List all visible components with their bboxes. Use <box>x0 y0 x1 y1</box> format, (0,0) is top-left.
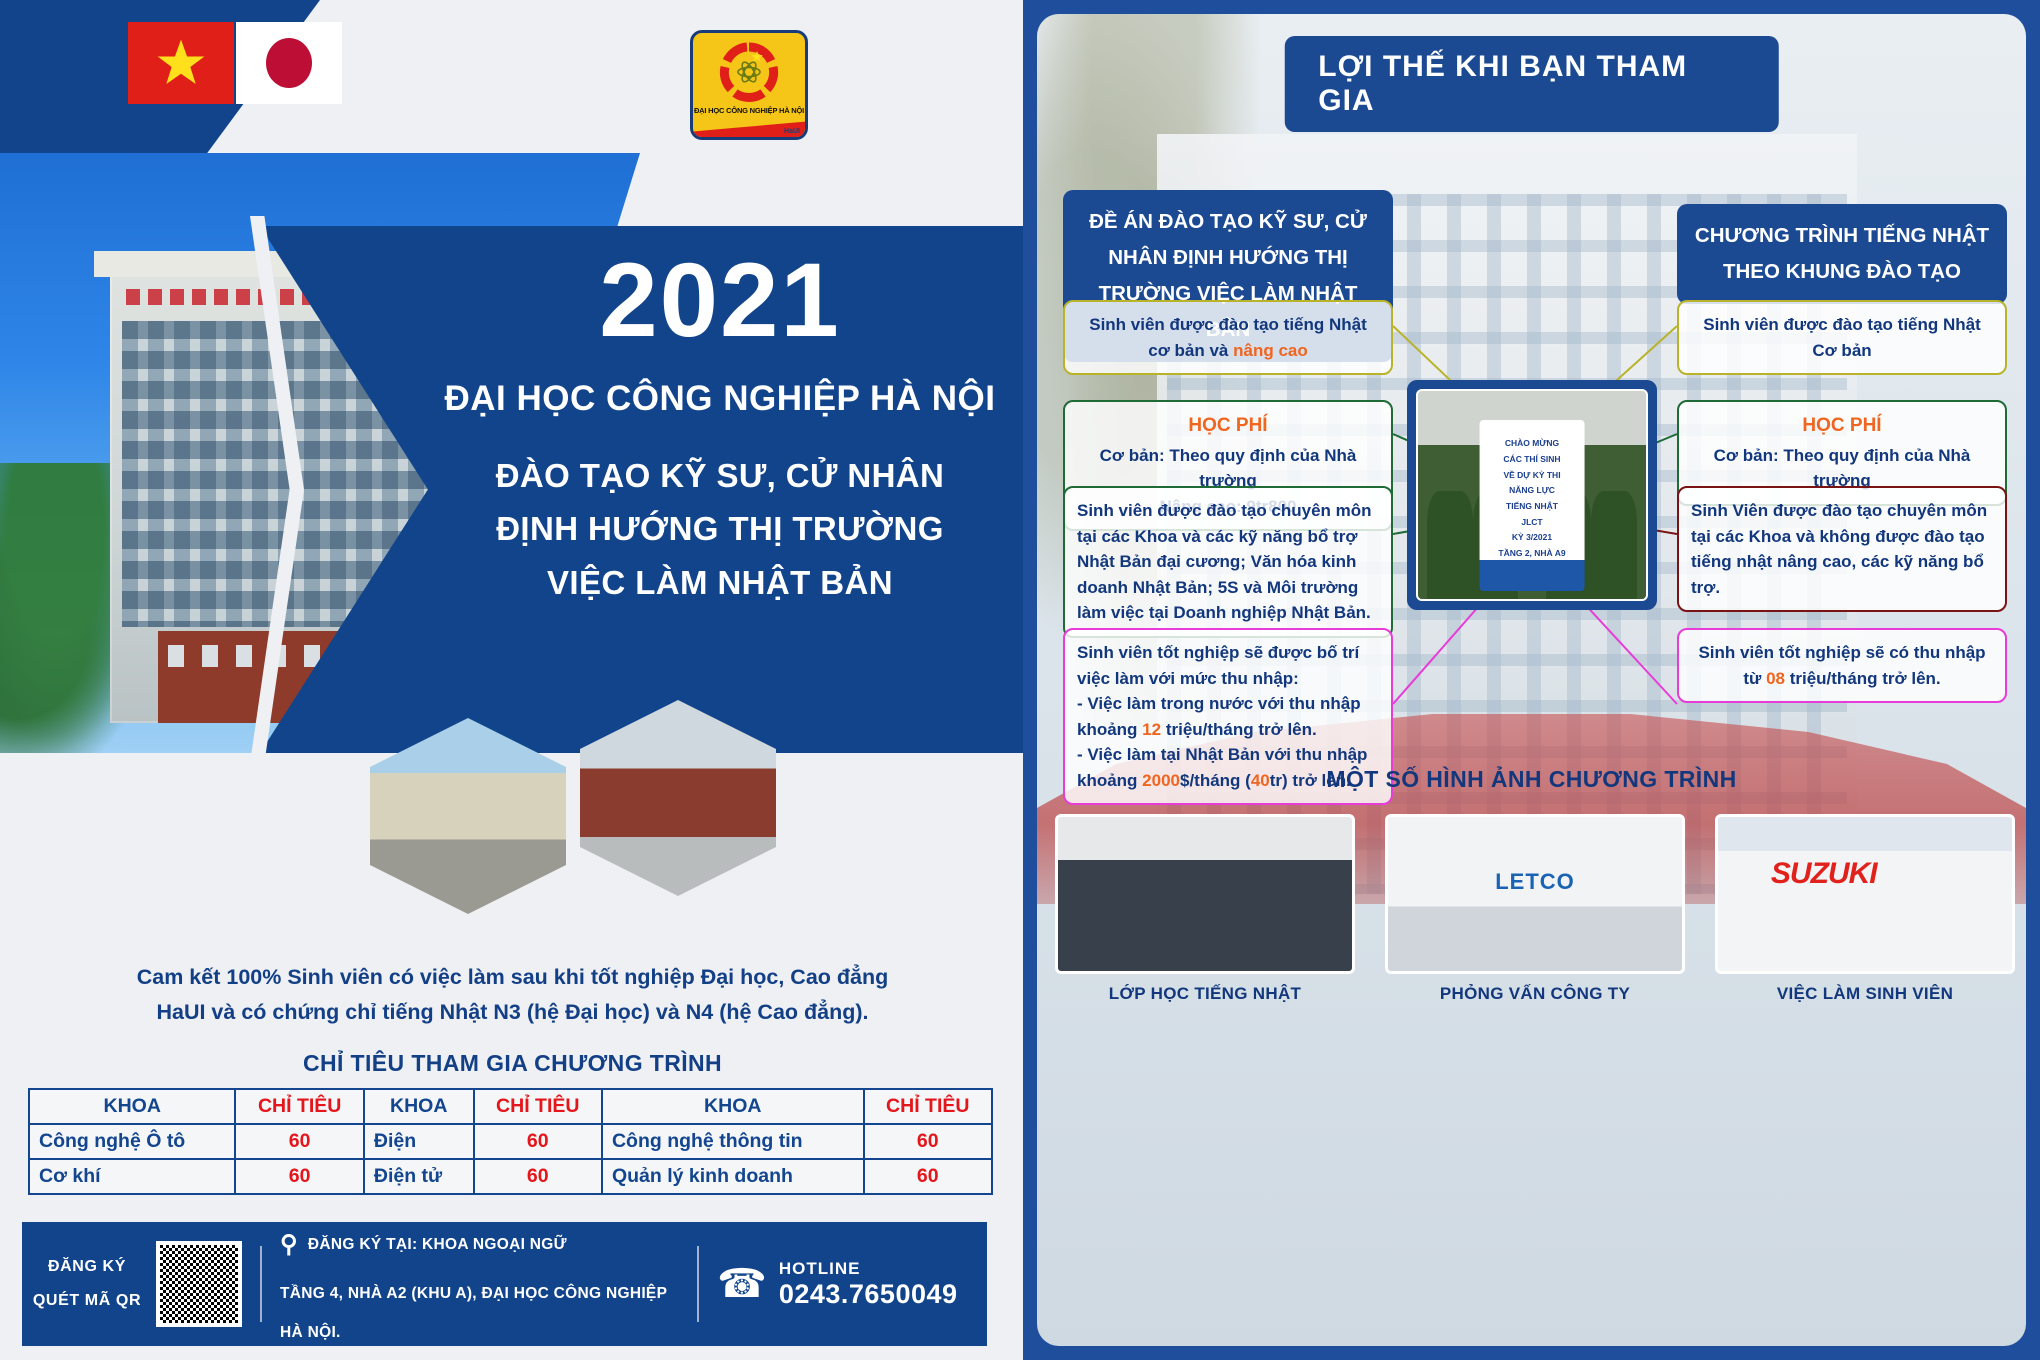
banner-line-7: KỲ 3/2021 <box>1480 530 1585 546</box>
vietnam-flag-icon <box>128 22 234 104</box>
accent-nang-cao: nâng cao <box>1233 341 1308 360</box>
japan-sun-disc <box>266 38 312 88</box>
cell-quota: 60 <box>474 1159 602 1194</box>
accent-12: 12 <box>1142 720 1161 739</box>
right-box-specialization: Sinh Viên được đào tạo chuyên môn tại cá… <box>1677 486 2007 612</box>
footer-address: ⚲ ĐĂNG KÝ TẠI: KHOA NGOẠI NGỮ TẦNG 4, NH… <box>280 1215 679 1353</box>
haui-logo-abbr: HaUI <box>784 128 800 135</box>
hero-section: 2021 ĐẠI HỌC CÔNG NGHIỆP HÀ NỘI ĐÀO TẠO … <box>0 153 1023 753</box>
footer-divider-1 <box>260 1246 262 1322</box>
page-title-year: 2021 <box>430 248 1010 353</box>
right-box-income: Sinh viên tốt nghiệp sẽ có thu nhập từ 0… <box>1677 628 2007 703</box>
register-line-1: ĐĂNG KÝ <box>22 1250 152 1284</box>
cell-quota: 60 <box>474 1124 602 1159</box>
col-chitieu-1: CHỈ TIÊU <box>235 1089 363 1124</box>
col-khoa-1: KHOA <box>29 1089 235 1124</box>
col-chitieu-2: CHỈ TIÊU <box>474 1089 602 1124</box>
income-line-4: khoảng 12 triệu/tháng trở lên. <box>1077 717 1379 743</box>
location-pin-icon: ⚲ <box>280 1215 298 1275</box>
commitment-text: Cam kết 100% Sinh viên có việc làm sau k… <box>40 960 985 1030</box>
haui-logo-name: ĐẠI HỌC CÔNG NGHIỆP HÀ NỘI <box>694 106 804 115</box>
hexagon-photo-2 <box>580 700 776 896</box>
banner-line-8: TẦNG 2, NHÀ A9 <box>1480 546 1585 562</box>
col-khoa-3: KHOA <box>602 1089 864 1124</box>
haui-logo-ring-icon <box>713 39 785 105</box>
center-photo-jlct: CHÀO MỪNG CÁC THÍ SINH VỀ DỰ KỲ THI NĂNG… <box>1407 380 1657 610</box>
hotline-number[interactable]: 0243.7650049 <box>779 1279 958 1309</box>
cell-dept: Điện <box>364 1124 474 1159</box>
flags-group <box>128 22 342 104</box>
income-line-2: việc làm với mức thu nhập: <box>1077 666 1379 692</box>
hexagon-photo-1 <box>370 718 566 914</box>
banner-line-1: CHÀO MỪNG <box>1480 436 1585 452</box>
income-line-1: Sinh viên tốt nghiệp sẽ được bố trí <box>1077 640 1379 666</box>
address-line-2: TẦNG 4, NHÀ A2 (KHU A), ĐẠI HỌC CÔNG NGH… <box>280 1275 679 1353</box>
footer-divider-2 <box>697 1246 699 1322</box>
phone-icon: ☎ <box>717 1261 767 1307</box>
accent-08: 08 <box>1766 669 1785 688</box>
title-block: 2021 ĐẠI HỌC CÔNG NGHIỆP HÀ NỘI ĐÀO TẠO … <box>430 248 1010 609</box>
footer-hotline: ☎ HOTLINE 0243.7650049 <box>717 1259 987 1310</box>
cell-quota: 60 <box>235 1159 363 1194</box>
student-4 <box>1591 491 1637 599</box>
banner-line-3: VỀ DỰ KỲ THI <box>1480 468 1585 484</box>
right-income-line-1: Sinh viên tốt nghiệp sẽ có thu nhập <box>1691 640 1993 666</box>
address-line-1: ĐĂNG KÝ TẠI: KHOA NGOẠI NGỮ <box>308 1226 567 1265</box>
quota-heading: CHỈ TIÊU THAM GIA CHƯƠNG TRÌNH <box>40 1050 985 1077</box>
footer-bar: ĐĂNG KÝ QUÉT MÃ QR ⚲ ĐĂNG KÝ TẠI: KHOA N… <box>22 1222 987 1346</box>
right-panel-inner: LỢI THẾ KHI BẠN THAM GIA ĐỀ ÁN ĐÀO TẠO K… <box>1037 14 2026 1346</box>
cell-quota: 60 <box>235 1124 363 1159</box>
cell-dept: Công nghệ Ô tô <box>29 1124 235 1159</box>
cell-quota: 60 <box>864 1159 992 1194</box>
poster-root: ĐẠI HỌC CÔNG NGHIỆP HÀ NỘI HaUI 2021 ĐẠI… <box>0 0 2040 1360</box>
left-box-language-training: Sinh viên được đào tạo tiếng Nhật cơ bản… <box>1063 300 1393 375</box>
right-box-language-training: Sinh viên được đào tạo tiếng Nhật Cơ bản <box>1677 300 2007 375</box>
qr-code[interactable] <box>156 1241 242 1327</box>
col-chitieu-3: CHỈ TIÊU <box>864 1089 992 1124</box>
jlct-banner: CHÀO MỪNG CÁC THÍ SINH VỀ DỰ KỲ THI NĂNG… <box>1480 420 1585 591</box>
japan-flag-icon <box>236 22 342 104</box>
center-photo-inner: CHÀO MỪNG CÁC THÍ SINH VỀ DỰ KỲ THI NĂNG… <box>1416 389 1648 601</box>
right-panel-title: LỢI THẾ KHI BẠN THAM GIA <box>1284 36 1779 132</box>
left-panel: ĐẠI HỌC CÔNG NGHIỆP HÀ NỘI HaUI 2021 ĐẠI… <box>0 0 1023 1360</box>
banner-line-2: CÁC THÍ SINH <box>1480 452 1585 468</box>
banner-line-5: TIẾNG NHẬT <box>1480 499 1585 515</box>
commitment-line-2: HaUI và có chứng chỉ tiếng Nhật N3 (hệ Đ… <box>40 995 985 1030</box>
left-box1-line1: Sinh viên được đào tạo tiếng Nhật <box>1077 312 1379 338</box>
gallery-caption-2: PHỎNG VẤN CÔNG TY <box>1385 984 1685 1004</box>
table-header-row: KHOA CHỈ TIÊU KHOA CHỈ TIÊU KHOA CHỈ TIÊ… <box>29 1089 992 1124</box>
table-row: Cơ khí 60 Điện tử 60 Quản lý kinh doanh … <box>29 1159 992 1194</box>
title-line-3: VIỆC LÀM NHẬT BẢN <box>430 556 1010 609</box>
qr-register-label: ĐĂNG KÝ QUÉT MÃ QR <box>22 1250 152 1317</box>
cell-quota: 60 <box>864 1124 992 1159</box>
gallery-caption-1: LỚP HỌC TIẾNG NHẬT <box>1055 984 1355 1004</box>
right-box1-line1: Sinh viên được đào tạo tiếng Nhật <box>1691 312 1993 338</box>
accent-2000: 2000 <box>1142 771 1180 790</box>
left-tuition-title: HỌC PHÍ <box>1077 412 1379 441</box>
qr-code-pattern <box>160 1245 238 1323</box>
haui-logo: ĐẠI HỌC CÔNG NGHIỆP HÀ NỘI HaUI <box>690 30 808 140</box>
gallery-photo-3 <box>1715 814 2015 974</box>
title-university: ĐẠI HỌC CÔNG NGHIỆP HÀ NỘI <box>430 379 1010 419</box>
col-khoa-2: KHOA <box>364 1089 474 1124</box>
income-line-5: - Việc làm tại Nhật Bản với thu nhập <box>1077 742 1379 768</box>
left-box-specialization: Sinh viên được đào tạo chuyên môn tại cá… <box>1063 486 1393 638</box>
banner-line-4: NĂNG LỰC <box>1480 483 1585 499</box>
title-line-1: ĐÀO TẠO KỸ SƯ, CỬ NHÂN <box>430 449 1010 502</box>
cell-dept: Công nghệ thông tin <box>602 1124 864 1159</box>
gallery-caption-3: VIỆC LÀM SINH VIÊN <box>1715 984 2015 1004</box>
accent-40: 40 <box>1251 771 1270 790</box>
title-line-2: ĐỊNH HƯỚNG THỊ TRƯỜNG <box>430 502 1010 555</box>
right-tuition-title: HỌC PHÍ <box>1691 412 1993 441</box>
gallery-photo-2 <box>1385 814 1685 974</box>
table-row: Công nghệ Ô tô 60 Điện 60 Công nghệ thôn… <box>29 1124 992 1159</box>
hexagon-photo-group <box>350 718 850 918</box>
header-box-right: CHƯƠNG TRÌNH TIẾNG NHẬT THEO KHUNG ĐÀO T… <box>1677 204 2007 304</box>
student-1 <box>1427 491 1473 599</box>
quota-table: KHOA CHỈ TIÊU KHOA CHỈ TIÊU KHOA CHỈ TIÊ… <box>28 1088 993 1195</box>
gallery-title: MỘT SỐ HÌNH ẢNH CHƯƠNG TRÌNH <box>1326 766 1736 793</box>
register-line-2: QUÉT MÃ QR <box>22 1284 152 1318</box>
cell-dept: Điện tử <box>364 1159 474 1194</box>
right-box1-line2: Cơ bản <box>1691 338 1993 364</box>
left-box1-line2: cơ bản và nâng cao <box>1077 338 1379 364</box>
cell-dept: Cơ khí <box>29 1159 235 1194</box>
gallery-photo-1 <box>1055 814 1355 974</box>
hotline-label: HOTLINE <box>779 1259 861 1278</box>
banner-line-6: JLCT <box>1480 515 1585 531</box>
commitment-line-1: Cam kết 100% Sinh viên có việc làm sau k… <box>40 960 985 995</box>
right-income-line-2: từ 08 triệu/tháng trở lên. <box>1691 666 1993 692</box>
cell-dept: Quản lý kinh doanh <box>602 1159 864 1194</box>
right-panel: LỢI THẾ KHI BẠN THAM GIA ĐỀ ÁN ĐÀO TẠO K… <box>1023 0 2040 1360</box>
income-line-3: - Việc làm trong nước với thu nhập <box>1077 691 1379 717</box>
